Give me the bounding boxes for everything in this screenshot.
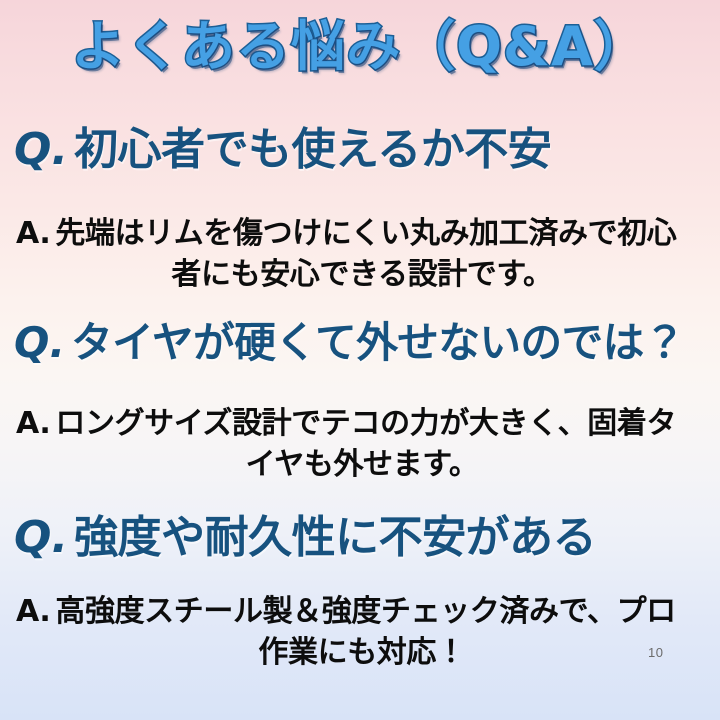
answer-text-1-line-2: 者にも安心できる設計です。 (16, 255, 708, 296)
answer-text-2-line-1: ロングサイズ設計でテコの力が大きく、固着タ (55, 406, 676, 441)
question-heading-2: Q.タイヤが硬くて外せないのでは？ (14, 322, 707, 364)
question-label-3: Q. (14, 512, 68, 563)
answer-line-2-first: A.ロングサイズ設計でテコの力が大きく、固着タ (16, 404, 708, 445)
answer-block-3: A.高強度スチール製＆強度チェック済みで、プロ 作業にも対応！ (16, 592, 708, 674)
answer-text-1-line-1: 先端はリムを傷つけにくい丸み加工済みで初心 (55, 216, 676, 251)
answer-line-1-first: A.先端はリムを傷つけにくい丸み加工済みで初心 (16, 214, 708, 255)
question-heading-3: Q.強度や耐久性に不安がある (14, 516, 714, 560)
answer-label-3: A. (16, 594, 50, 629)
answer-label-1: A. (16, 216, 50, 251)
question-text-3: 強度や耐久性に不安がある (74, 512, 596, 563)
answer-block-1: A.先端はリムを傷つけにくい丸み加工済みで初心 者にも安心できる設計です。 (16, 214, 708, 296)
slide-canvas: よくある悩み（Q&A） Q.初心者でも使えるか不安 A.先端はリムを傷つけにくい… (0, 0, 720, 720)
answer-text-2-line-2: イヤも外せます。 (16, 445, 708, 486)
question-text-1: 初心者でも使えるか不安 (74, 124, 551, 175)
answer-text-3-line-1: 高強度スチール製＆強度チェック済みで、プロ (55, 594, 675, 629)
question-heading-1: Q.初心者でも使えるか不安 (14, 128, 714, 172)
answer-text-3-line-2: 作業にも対応！ (16, 633, 708, 674)
question-text-2: タイヤが硬くて外せないのでは？ (71, 318, 685, 367)
answer-line-3-first: A.高強度スチール製＆強度チェック済みで、プロ (16, 592, 708, 633)
page-title: よくある悩み（Q&A） (71, 18, 649, 76)
question-label-2: Q. (14, 318, 65, 367)
answer-block-2: A.ロングサイズ設計でテコの力が大きく、固着タ イヤも外せます。 (16, 404, 708, 486)
question-label-1: Q. (14, 124, 68, 175)
page-number: 10 (648, 645, 663, 660)
slide-title-block: よくある悩み（Q&A） (0, 18, 720, 76)
answer-label-2: A. (16, 406, 50, 441)
